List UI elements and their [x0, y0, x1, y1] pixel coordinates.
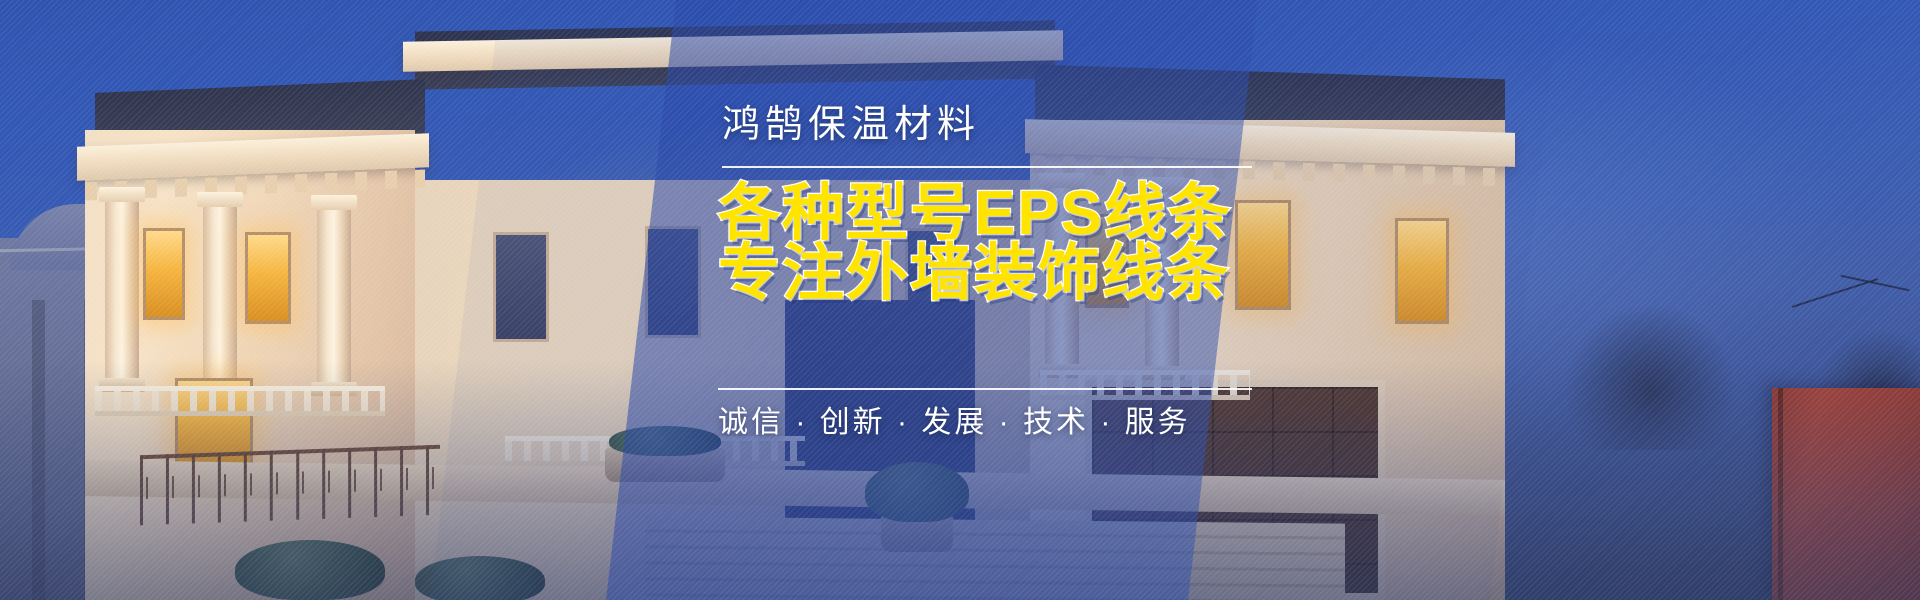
column-left-3	[317, 208, 351, 384]
divider-top	[722, 166, 1252, 168]
banner-copy: 鸿鹄保温材料 各种型号EPS线条 专注外墙装饰线条 诚信 · 创新 · 发展 ·…	[722, 0, 1282, 600]
column-capital	[99, 187, 145, 202]
column-capital	[197, 192, 243, 207]
headline: 各种型号EPS线条 专注外墙装饰线条	[718, 184, 1232, 304]
window-glow-left-1	[143, 228, 185, 320]
divider-bottom	[718, 388, 1252, 390]
window-glow-left-2	[245, 232, 291, 324]
headline-line-2: 专注外墙装饰线条	[718, 244, 1232, 304]
column-left-1	[105, 200, 139, 380]
headline-line-1: 各种型号EPS线条	[718, 184, 1232, 244]
hero-banner: 鸿鹄保温材料 各种型号EPS线条 专注外墙装饰线条 诚信 · 创新 · 发展 ·…	[0, 0, 1920, 600]
brand-name: 鸿鹄保温材料	[722, 106, 980, 144]
column-capital	[311, 195, 357, 210]
tagline: 诚信 · 创新 · 发展 · 技术 · 服务	[718, 408, 1191, 438]
column-left-2	[203, 205, 237, 383]
